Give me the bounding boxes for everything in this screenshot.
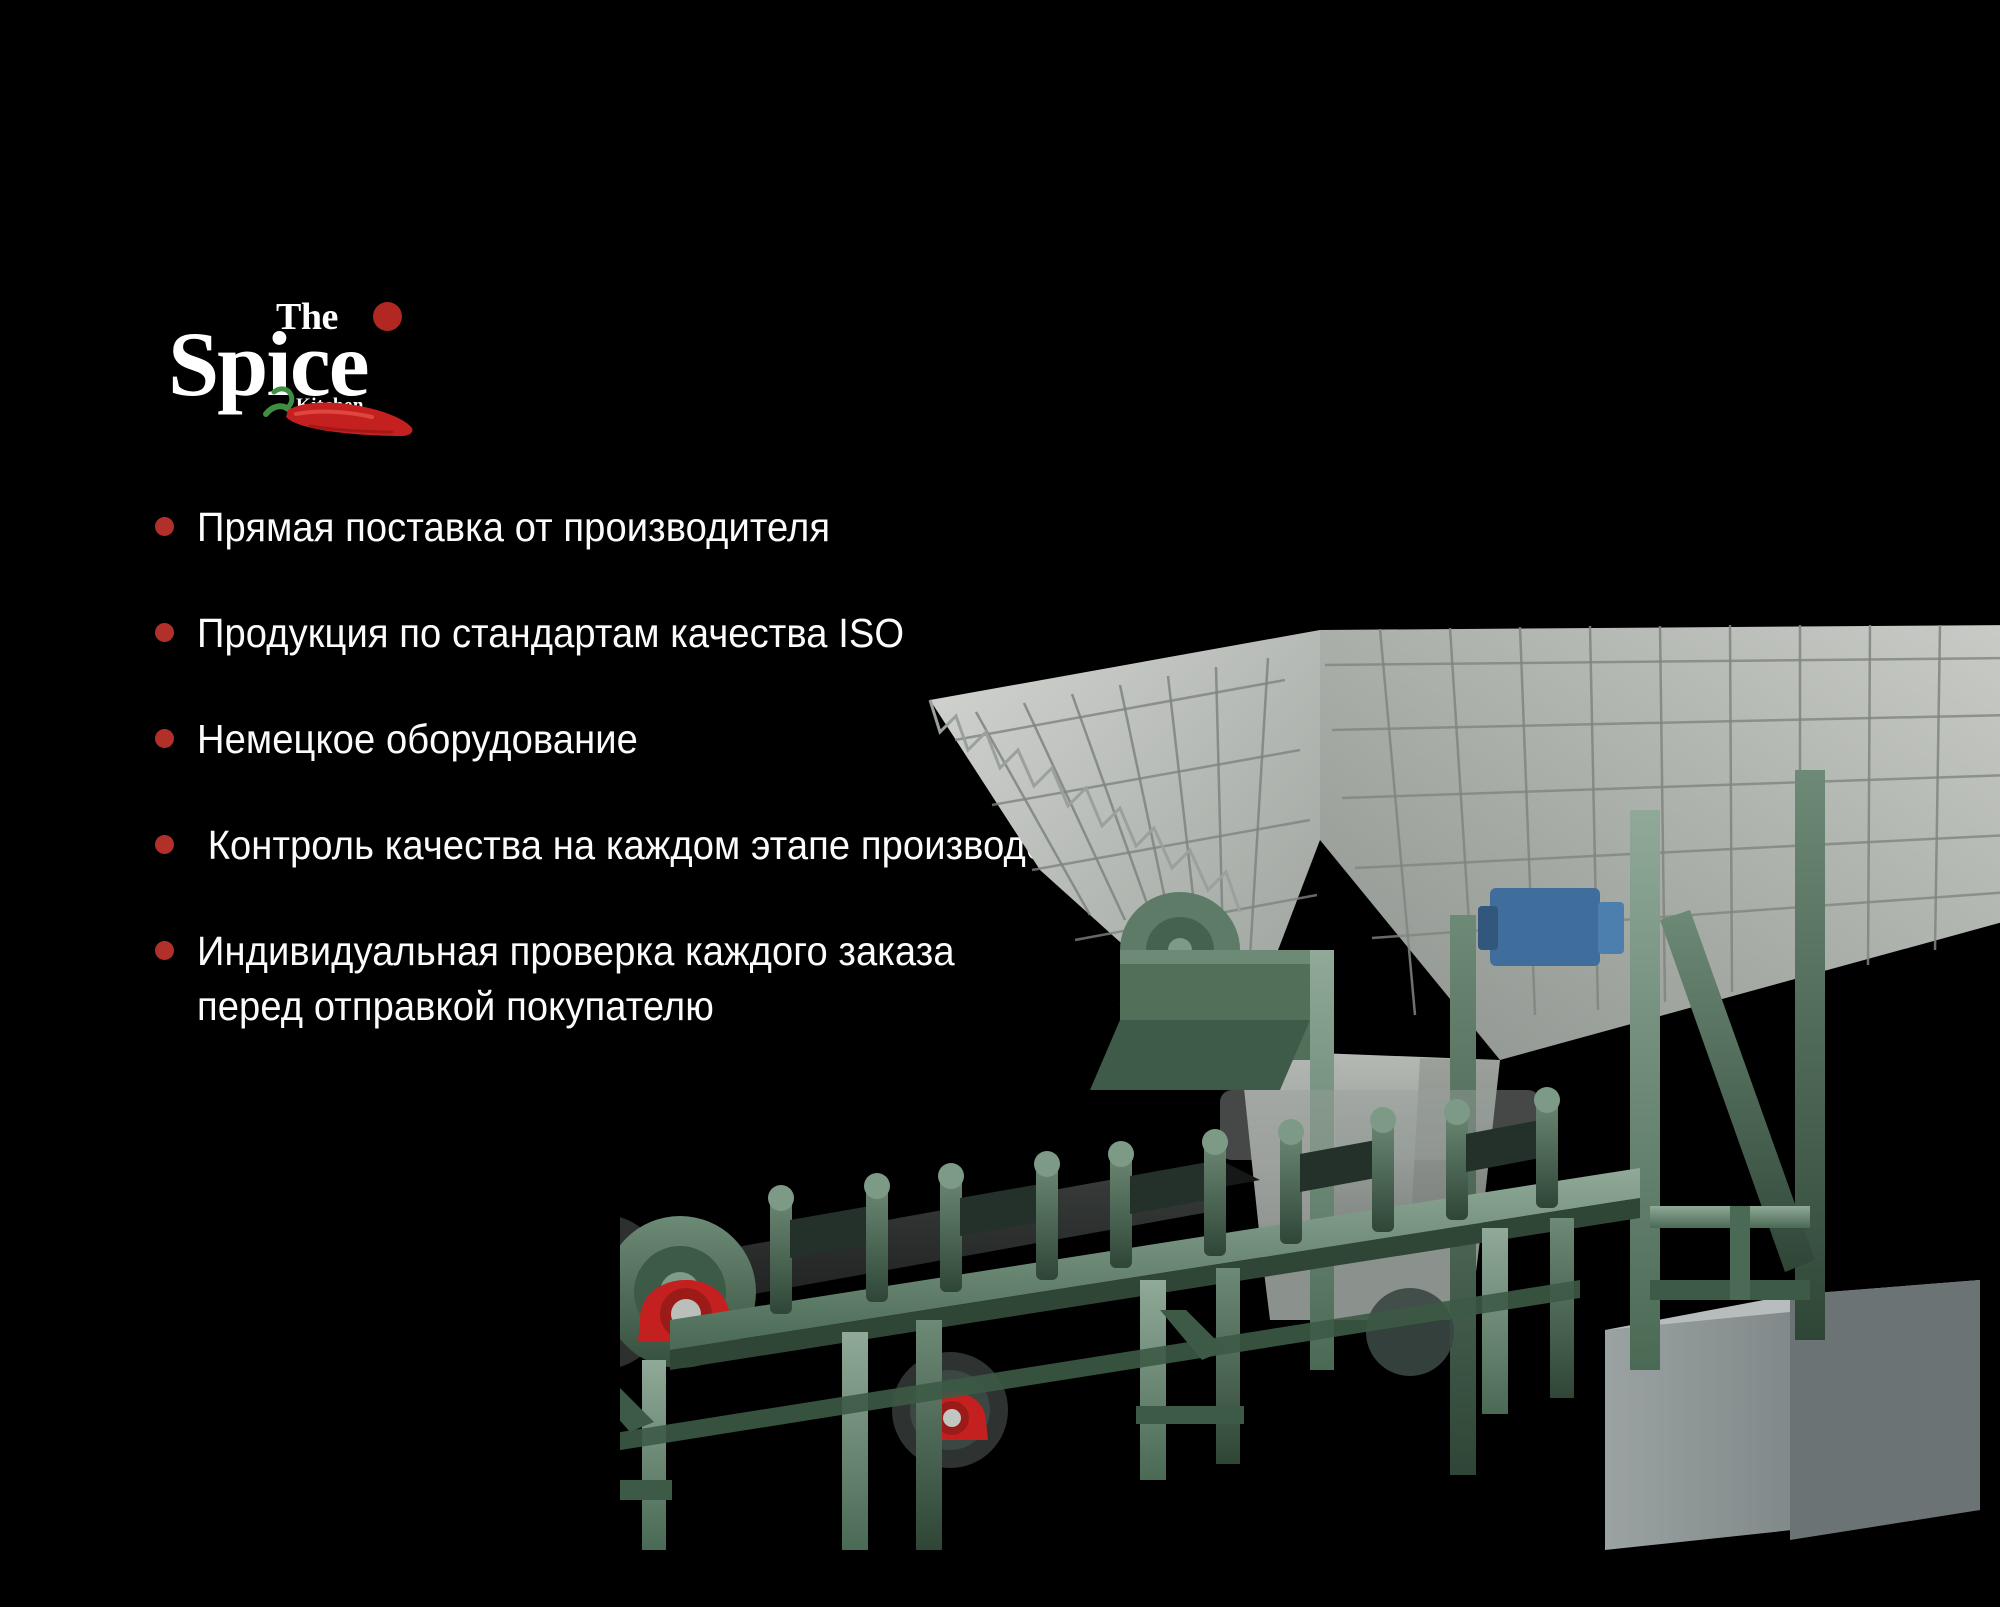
conveyor-part [620,1087,1640,1550]
logo-wordmark-the: The [276,298,338,336]
bullet-marker-icon [155,623,174,642]
bullet-marker-icon [155,941,174,960]
list-item: Прямая поставка от производителя [155,500,1255,554]
slide-canvas: Spice The Kitchen Прямая поставка от про… [0,0,2000,1607]
bullet-marker-icon [155,835,174,854]
return-idler [892,1352,1008,1468]
logo-dot-icon [373,302,402,331]
list-item-label: Прямая поставка от производителя [197,500,830,554]
conveyor-and-hopper-illustration [620,620,2000,1550]
bullet-marker-icon [155,729,174,748]
brand-logo: Spice The Kitchen [168,296,448,436]
base-cabinet-part [1605,1280,1980,1550]
list-item-label: Немецкое оборудование [197,712,638,766]
bullet-marker-icon [155,517,174,536]
logo-wordmark-kitchen: Kitchen [296,396,364,415]
